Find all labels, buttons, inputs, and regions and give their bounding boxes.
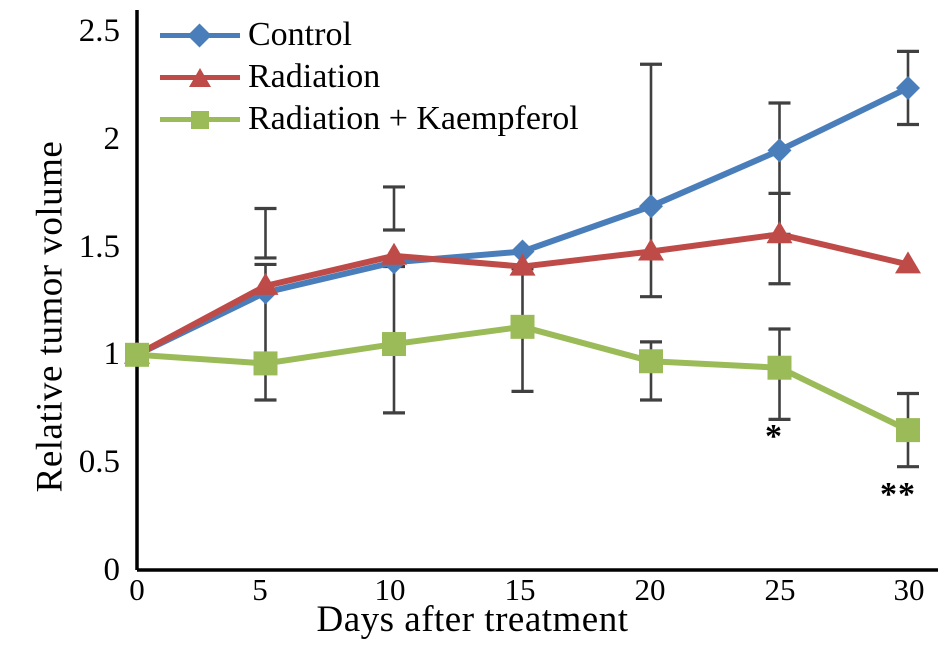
data-point-radiation-kaempferol-day20 [639, 349, 663, 373]
error-bars-radiation-kaempferol [255, 264, 920, 466]
data-point-control-day20 [639, 194, 663, 218]
data-point-radiation-kaempferol-day0 [125, 343, 149, 367]
data-point-radiation-kaempferol-day25 [768, 356, 792, 380]
data-point-radiation-kaempferol-day30 [896, 418, 920, 442]
data-point-control-day30 [896, 76, 920, 100]
data-point-radiation-kaempferol-day5 [254, 351, 278, 375]
data-point-radiation-kaempferol-day15 [511, 315, 535, 339]
data-point-control-day25 [768, 138, 792, 162]
data-point-radiation-kaempferol-day10 [382, 332, 406, 356]
chart-figure: Relative tumor volume 2.5 2 1.5 1 0.5 0 … [0, 0, 945, 649]
data-point-radiation-day25 [767, 221, 793, 243]
plot-area [0, 0, 945, 649]
